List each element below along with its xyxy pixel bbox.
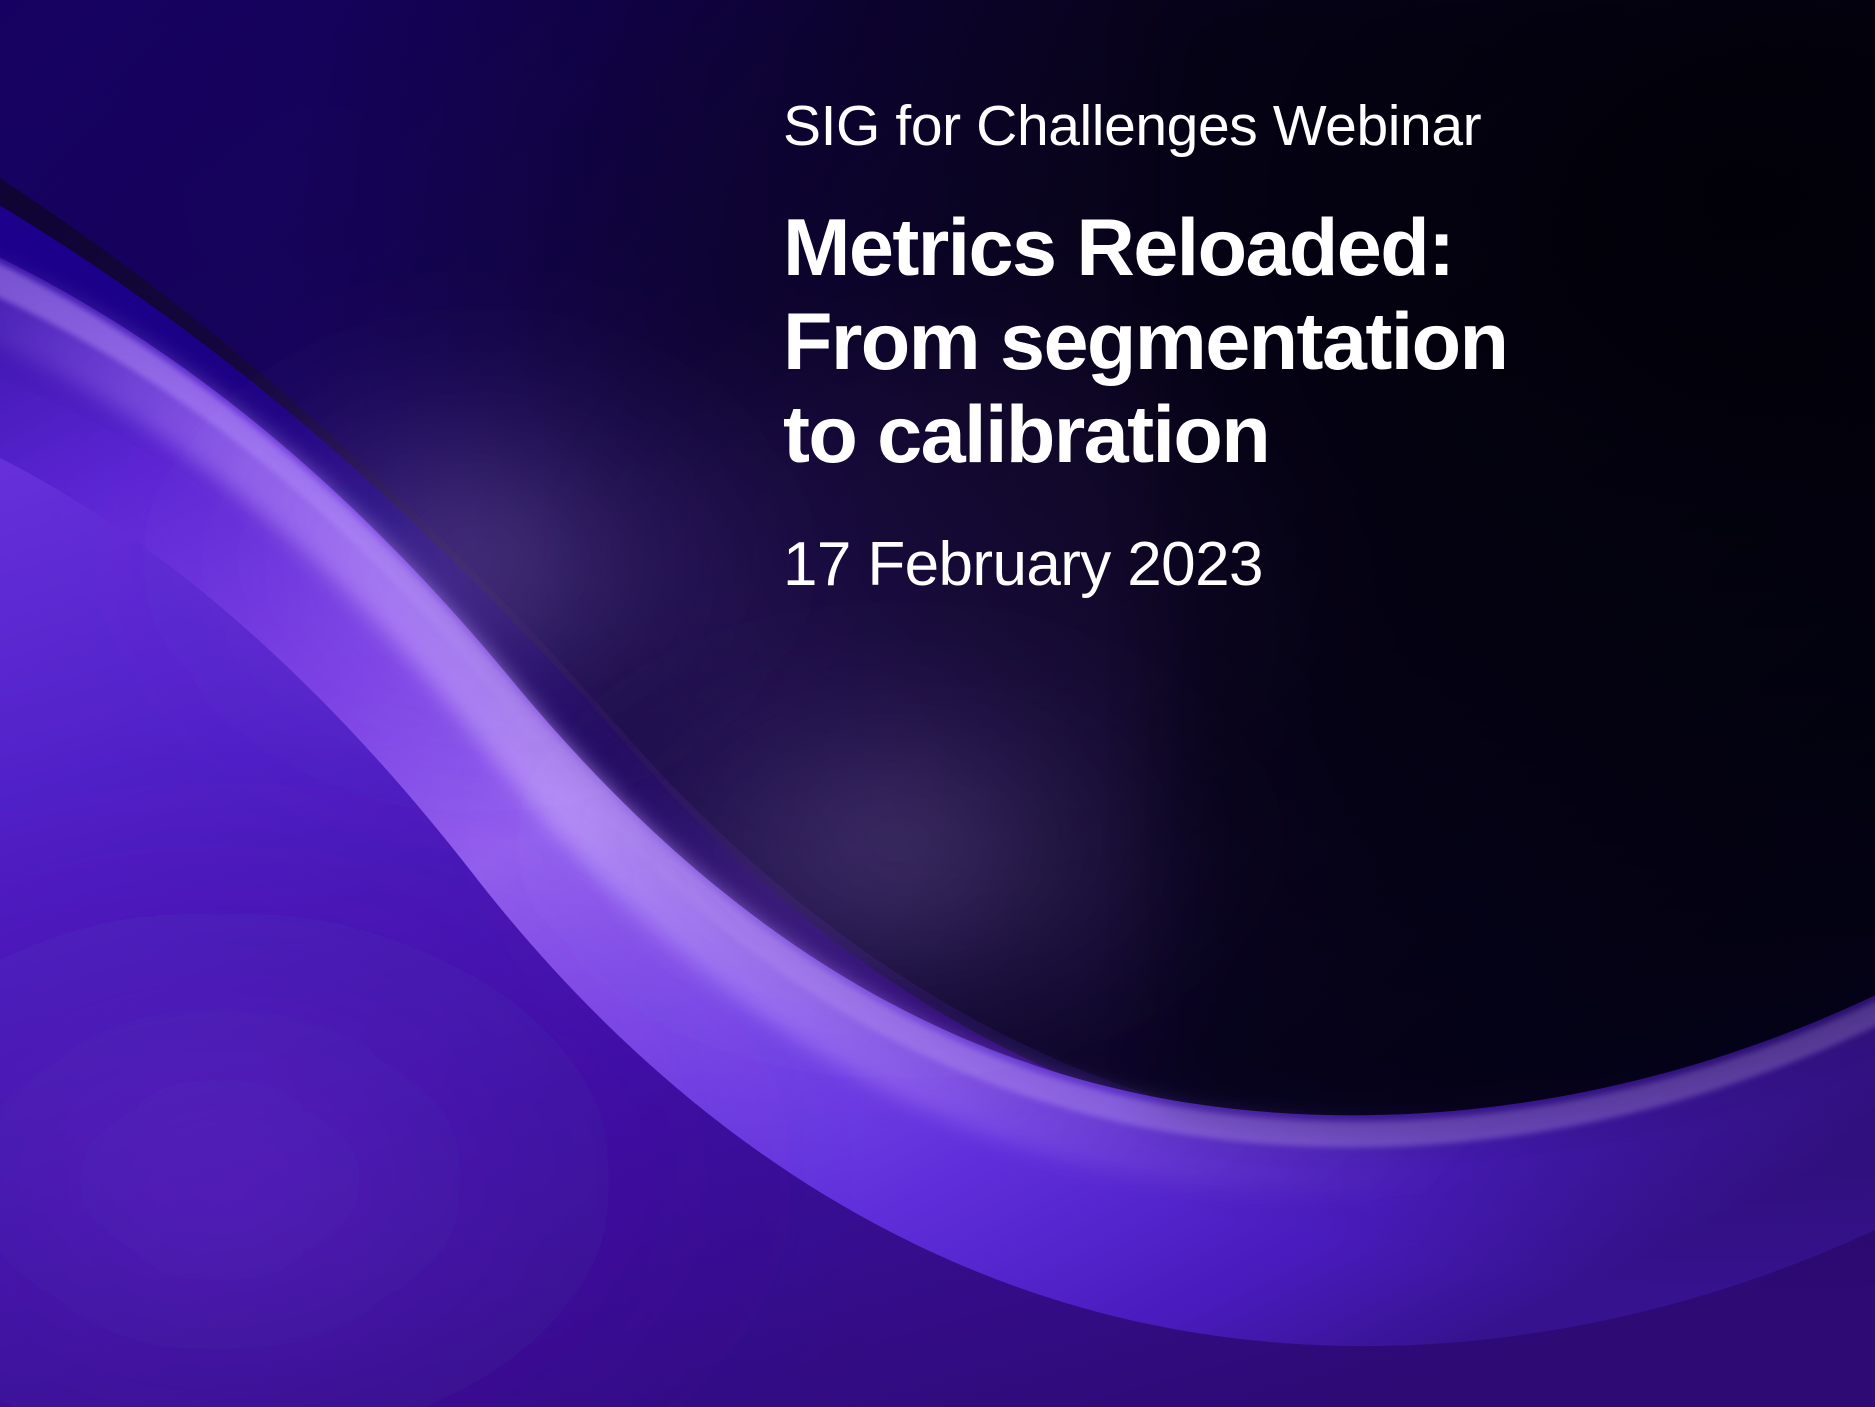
- page-title: Metrics Reloaded: From segmentation to c…: [783, 202, 1543, 484]
- page-title-line-1: Metrics Reloaded:: [783, 202, 1543, 296]
- event-date: 17 February 2023: [783, 531, 1543, 599]
- page-title-line-3: to calibration: [783, 389, 1543, 483]
- title-text-block: SIG for Challenges Webinar Metrics Reloa…: [783, 96, 1543, 600]
- webinar-title-card: SIG for Challenges Webinar Metrics Reloa…: [0, 0, 1875, 1407]
- page-title-line-2: From segmentation: [783, 296, 1543, 390]
- eyebrow-series-label: SIG for Challenges Webinar: [783, 96, 1543, 158]
